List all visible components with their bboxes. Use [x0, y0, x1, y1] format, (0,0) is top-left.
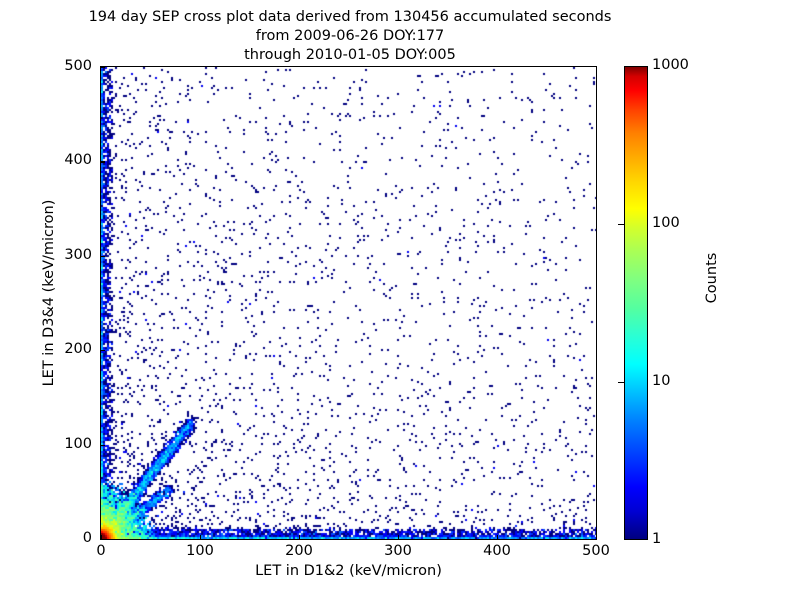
- colorbar-label: Counts: [704, 178, 720, 378]
- y-axis-label: LET in D3&4 (keV/micron): [41, 143, 57, 443]
- colorbar: [624, 66, 648, 540]
- colorbar-tick-mark: [618, 382, 624, 383]
- y-tick-label: 200: [30, 341, 92, 357]
- title-line-3: through 2010-01-05 DOY:005: [0, 46, 700, 65]
- x-tick-label: 500: [566, 543, 626, 559]
- plot-title: 194 day SEP cross plot data derived from…: [0, 8, 700, 65]
- y-tick-mark: [100, 350, 105, 351]
- scatter-density-plot: [101, 67, 596, 539]
- x-axis-label: LET in D1&2 (keV/micron): [100, 563, 597, 579]
- figure-canvas: 194 day SEP cross plot data derived from…: [0, 0, 800, 600]
- colorbar-tick-label: 1: [652, 531, 661, 547]
- plot-area: [100, 66, 597, 540]
- x-tick-mark: [497, 535, 498, 540]
- y-tick-mark: [100, 539, 105, 540]
- y-tick-label: 500: [30, 58, 92, 74]
- title-line-1: 194 day SEP cross plot data derived from…: [0, 8, 700, 27]
- x-tick-mark: [200, 535, 201, 540]
- title-line-2: from 2009-06-26 DOY:177: [0, 27, 700, 46]
- x-tick-label: 400: [467, 543, 527, 559]
- x-tick-mark: [596, 535, 597, 540]
- y-tick-mark: [100, 161, 105, 162]
- y-tick-label: 400: [30, 152, 92, 168]
- colorbar-tick-mark: [618, 224, 624, 225]
- colorbar-tick-label: 100: [652, 215, 680, 231]
- y-tick-label: 300: [30, 247, 92, 263]
- x-tick-mark: [299, 535, 300, 540]
- y-tick-label: 0: [30, 530, 92, 546]
- y-tick-mark: [100, 445, 105, 446]
- x-tick-label: 100: [170, 543, 230, 559]
- y-tick-mark: [100, 67, 105, 68]
- x-tick-label: 200: [269, 543, 329, 559]
- x-tick-label: 300: [368, 543, 428, 559]
- y-tick-label: 100: [30, 436, 92, 452]
- colorbar-tick-label: 10: [652, 373, 670, 389]
- colorbar-tick-label: 1000: [652, 57, 689, 73]
- y-tick-mark: [100, 256, 105, 257]
- x-tick-mark: [398, 535, 399, 540]
